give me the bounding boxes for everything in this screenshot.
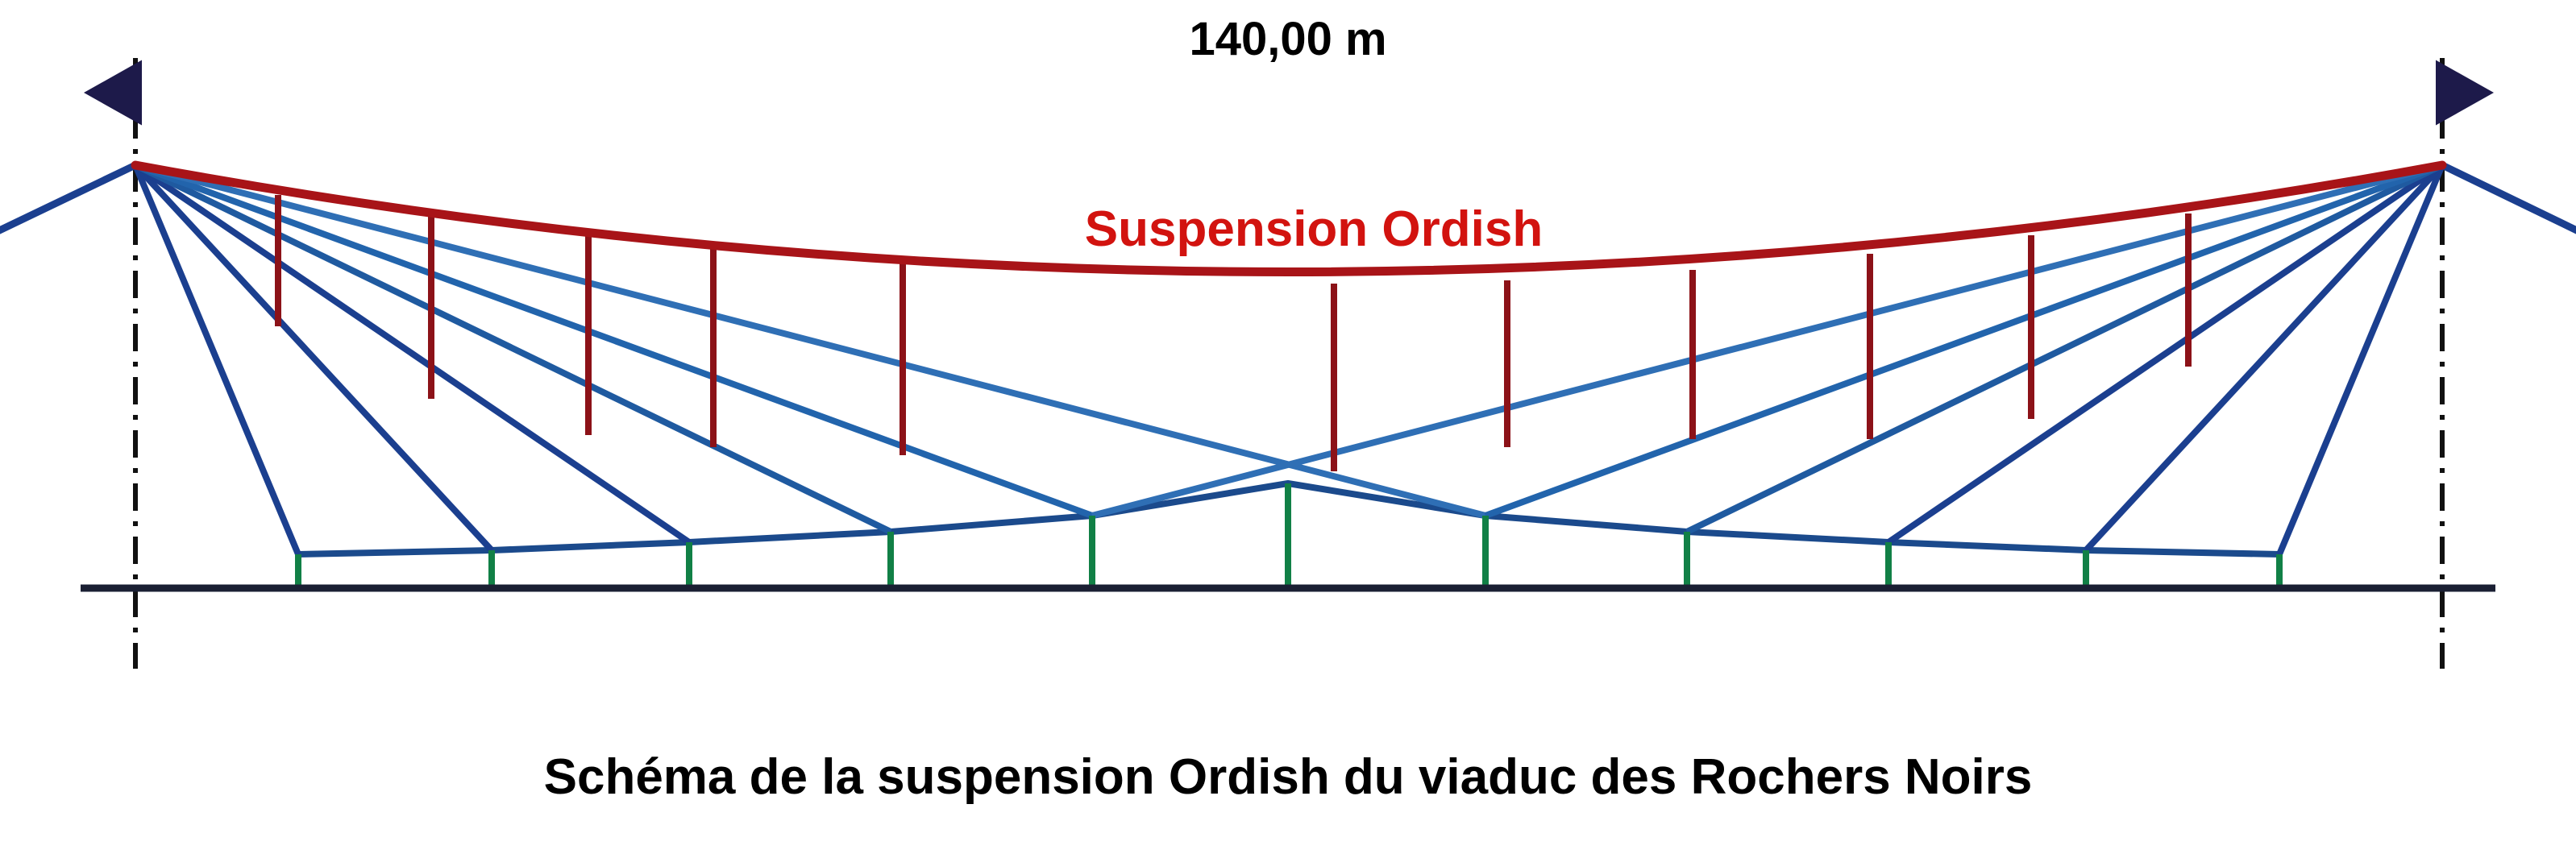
- figure-caption: Schéma de la suspension Ordish du viaduc…: [544, 749, 2033, 805]
- right-stay-cable-5: [1485, 165, 2442, 516]
- right-stay-cable-3: [1888, 165, 2442, 542]
- suspension-cable-label: Suspension Ordish: [1085, 201, 1543, 257]
- suspension-diagram-root: 140,00 m: [0, 0, 2576, 854]
- span-dimension: 140,00 m: [142, 13, 2436, 93]
- left-backstay-cable: [0, 165, 135, 242]
- span-dimension-label: 140,00 m: [1189, 13, 1386, 65]
- bridge-schematic-svg: 140,00 m: [0, 0, 2576, 854]
- left-stay-cable-2: [135, 165, 492, 550]
- left-stay-cable-3: [135, 165, 689, 542]
- right-stay-cable-2: [2086, 165, 2442, 550]
- deck-posts: [298, 483, 2279, 588]
- right-backstay-cable: [2442, 165, 2576, 242]
